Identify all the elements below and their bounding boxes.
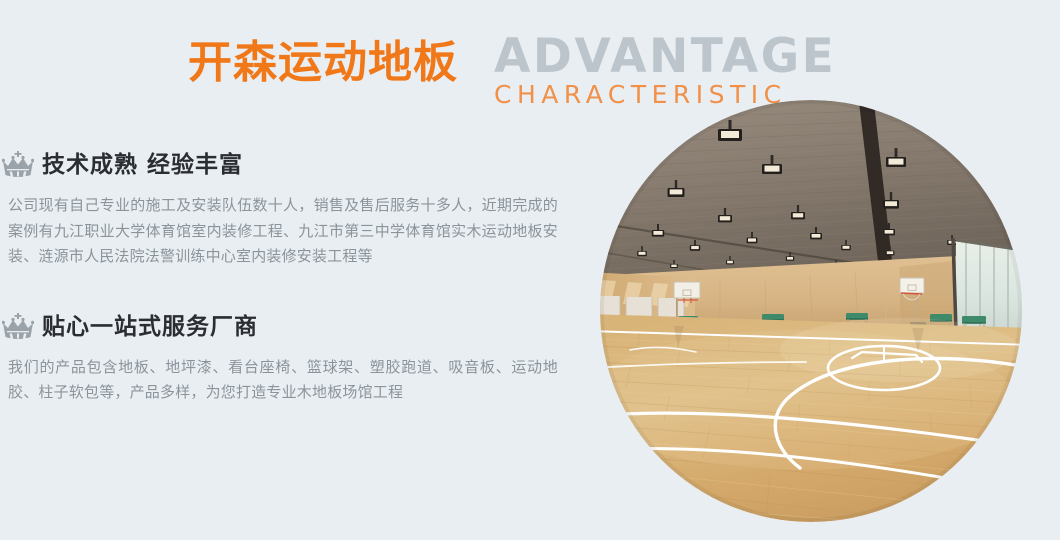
content-column: 技术成熟 经验丰富 公司现有自己专业的施工及安装队伍数十人，销售及售后服务十多人… [0, 150, 575, 406]
crown-icon [2, 313, 34, 341]
advantage-block-1: 技术成熟 经验丰富 公司现有自己专业的施工及安装队伍数十人，销售及售后服务十多人… [0, 150, 575, 270]
header: 开森运动地板 ADVANTAGE CHARACTERISTIC [0, 0, 1060, 120]
page-title-cn: 开森运动地板 [188, 38, 458, 88]
advantage-body-1: 公司现有自己专业的施工及安装队伍数十人，销售及售后服务十多人，近期完成的案例有九… [0, 193, 558, 270]
basketball-court-photo [600, 100, 1022, 522]
page-title-en-sub: CHARACTERISTIC [494, 81, 787, 109]
advantage-heading-2: 贴心一站式服务厂商 [42, 312, 258, 342]
advantage-banner: 开森运动地板 ADVANTAGE CHARACTERISTIC [0, 0, 1060, 540]
crown-icon [2, 151, 34, 179]
advantage-block-2: 贴心一站式服务厂商 我们的产品包含地板、地坪漆、看台座椅、篮球架、塑胶跑道、吸音… [0, 312, 575, 406]
advantage-heading-row-1: 技术成熟 经验丰富 [0, 150, 575, 180]
advantage-heading-row-2: 贴心一站式服务厂商 [0, 312, 575, 342]
advantage-body-2: 我们的产品包含地板、地坪漆、看台座椅、篮球架、塑胶跑道、吸音板、运动地胶、柱子软… [0, 355, 558, 406]
page-title-en-main: ADVANTAGE [494, 32, 836, 82]
advantage-heading-1: 技术成熟 经验丰富 [42, 150, 243, 180]
